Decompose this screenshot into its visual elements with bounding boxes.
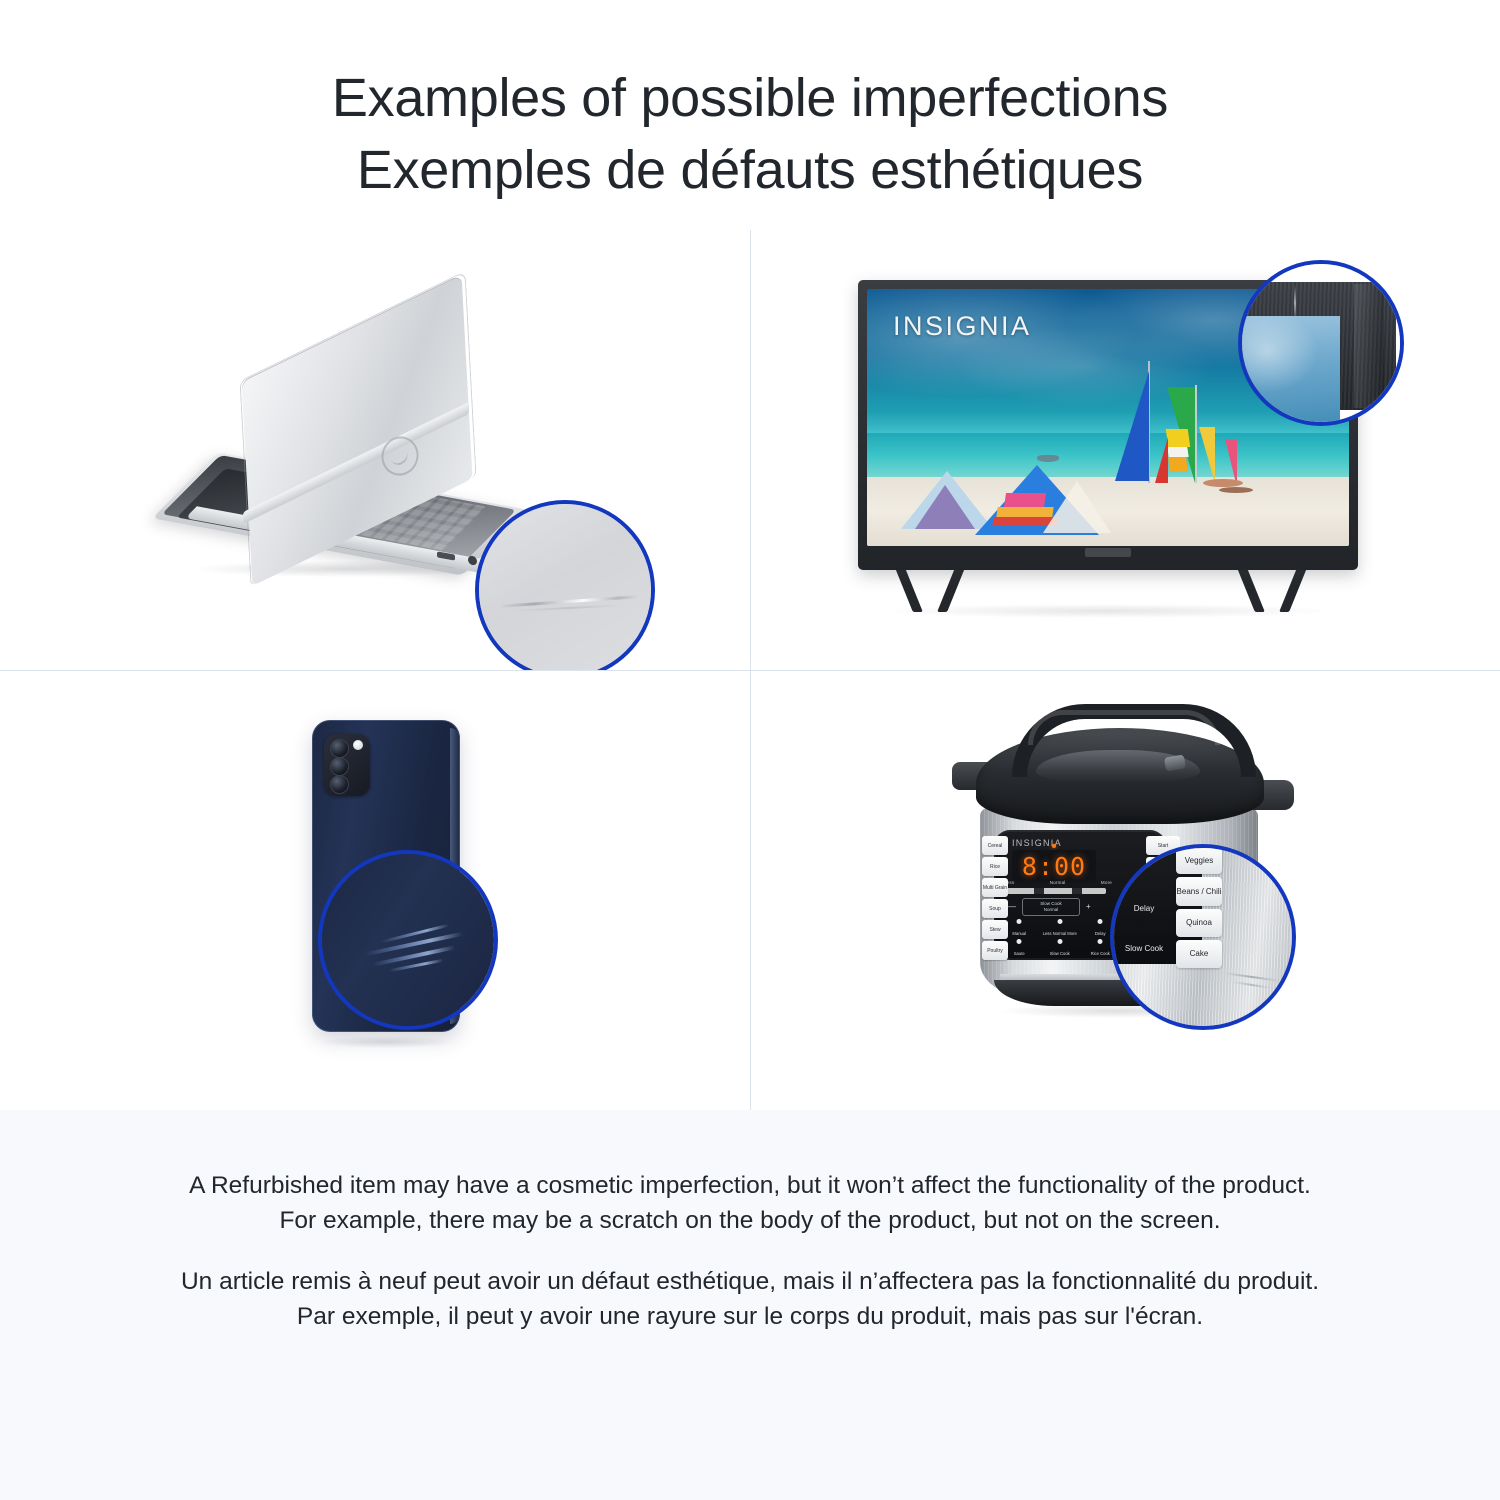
beach-sail-stripe-pink: [1004, 493, 1046, 507]
cooker-preset-button[interactable]: Cereal: [982, 836, 1008, 855]
camera-lens-icon: [330, 775, 349, 794]
button-led-icon: [1098, 919, 1103, 924]
zoomed-button-column: Veggies Beans / Chili Quinoa Cake: [1176, 844, 1222, 968]
magnifier-surface: [475, 500, 655, 670]
camera-lens-icon: [330, 757, 349, 776]
cooker-button-label: Slow Cook: [1050, 951, 1070, 956]
footer-paragraph-french: Un article remis à neuf peut avoir un dé…: [176, 1264, 1324, 1334]
example-cell-smartphone: [0, 670, 750, 1110]
beached-hull-2: [1219, 487, 1253, 493]
beach-sail-a2: [915, 485, 975, 529]
cooker-button-label: Saute: [1014, 951, 1025, 956]
cooker-button-label: Delay: [1095, 931, 1106, 936]
beached-hull-1: [1203, 479, 1243, 487]
button-led-icon: [1098, 939, 1103, 944]
cooker-left-button-column: Cereal Rice Multi Grain Soup Stew Poultr…: [982, 834, 1008, 960]
magnifier-circle-pressure-cooker: Delay Slow Cook Veggies Beans / Chili Qu…: [1110, 844, 1296, 1030]
camera-flash-icon: [353, 740, 363, 750]
cooker-indicator-led: [1052, 844, 1056, 848]
camera-lens-icon: [330, 739, 349, 758]
sail-stripe-white: [1167, 447, 1188, 457]
zoomed-bezel-edge: [1354, 284, 1384, 408]
mode-line-2: Normal: [1044, 907, 1059, 913]
bar-label-more: More: [1101, 880, 1112, 885]
sail-blue: [1115, 371, 1149, 481]
sail-stripe-yellow: [1166, 429, 1191, 447]
phone-shadow: [322, 1036, 450, 1048]
cooker-minus-button[interactable]: —: [1008, 902, 1016, 911]
cooker-plus-button[interactable]: +: [1086, 902, 1091, 911]
laptop-illustration: [0, 230, 750, 670]
cooker-preset-button[interactable]: Rice: [982, 857, 1008, 876]
pressure-cooker-illustration: INSIGNIA 8:00 Less Normal More — + Slow …: [750, 670, 1500, 1110]
beach-sail-c: [1043, 481, 1111, 533]
magnifier-surface: [318, 850, 498, 1030]
page-title: Examples of possible imperfections Exemp…: [0, 0, 1500, 206]
cooker-button-label: Manual: [1012, 931, 1026, 936]
cooker-preset-button[interactable]: Stew: [982, 920, 1008, 939]
bar-label-normal: Normal: [1050, 880, 1066, 885]
zoomed-preset-button[interactable]: Veggies: [1176, 846, 1222, 874]
sail-stripe-orange: [1168, 457, 1188, 471]
cooker-display-value: 8:00: [1022, 852, 1086, 881]
cooker-preset-button[interactable]: Soup: [982, 899, 1008, 918]
button-led-icon: [1017, 939, 1022, 944]
button-led-icon: [1057, 939, 1062, 944]
scratch-mark: [1294, 286, 1296, 320]
title-english: Examples of possible imperfections: [0, 62, 1500, 134]
footer-paragraph-english: A Refurbished item may have a cosmetic i…: [176, 1168, 1324, 1238]
cooker-preset-button[interactable]: Multi Grain: [982, 878, 1008, 897]
tv-logo-plate: [1085, 548, 1131, 557]
zoomed-preset-button[interactable]: Beans / Chili: [1176, 877, 1222, 905]
tv-brand-logo: INSIGNIA: [893, 311, 1032, 342]
sail-yellow: [1199, 427, 1215, 483]
title-french: Exemples de défauts esthétiques: [0, 134, 1500, 206]
button-led-icon: [1017, 919, 1022, 924]
cooker-handle-highlight: [1028, 710, 1220, 745]
sail-red: [1155, 437, 1168, 483]
cooker-button[interactable]: Slow Cook: [1041, 938, 1080, 956]
magnifier-circle-laptop: [475, 500, 655, 670]
zoomed-label-delay: Delay: [1122, 904, 1166, 913]
zoomed-screen: [1238, 316, 1340, 426]
zoomed-preset-button[interactable]: Cake: [1176, 940, 1222, 968]
tv-leg-right: [1244, 568, 1314, 612]
magnifier-circle-smartphone: [318, 850, 498, 1030]
example-cell-pressure-cooker: INSIGNIA 8:00 Less Normal More — + Slow …: [750, 670, 1500, 1110]
example-cell-television: INSIGNIA: [750, 230, 1500, 670]
magnifier-circle-television: [1238, 260, 1404, 426]
sailboat-mast-2: [1195, 385, 1197, 483]
smartphone-illustration: [0, 670, 750, 1110]
cooker-button[interactable]: Less Normal More: [1041, 918, 1080, 936]
distant-boat: [1037, 455, 1059, 462]
cooker-level-bar: [1006, 888, 1106, 894]
cooker-preset-button[interactable]: Poultry: [982, 941, 1008, 960]
cooker-bar-labels: Less Normal More: [1004, 880, 1112, 885]
example-cell-laptop: [0, 230, 750, 670]
tv-leg-left: [902, 568, 972, 612]
cooker-button-label: Less Normal More: [1043, 931, 1077, 936]
cooker-button-label: Rice Cook: [1091, 951, 1110, 956]
zoomed-preset-button[interactable]: Quinoa: [1176, 909, 1222, 937]
refurbished-imperfections-infographic: Examples of possible imperfections Exemp…: [0, 0, 1500, 1500]
footer-description: A Refurbished item may have a cosmetic i…: [0, 1110, 1500, 1500]
cooker-mode-readout: Slow Cook Normal: [1022, 898, 1080, 916]
television-illustration: INSIGNIA: [750, 230, 1500, 670]
examples-grid: INSIGNIA: [0, 230, 1500, 1110]
button-led-icon: [1057, 919, 1062, 924]
cooker-display: 8:00: [1012, 850, 1096, 882]
zoomed-label-slow-cook: Slow Cook: [1116, 944, 1172, 953]
